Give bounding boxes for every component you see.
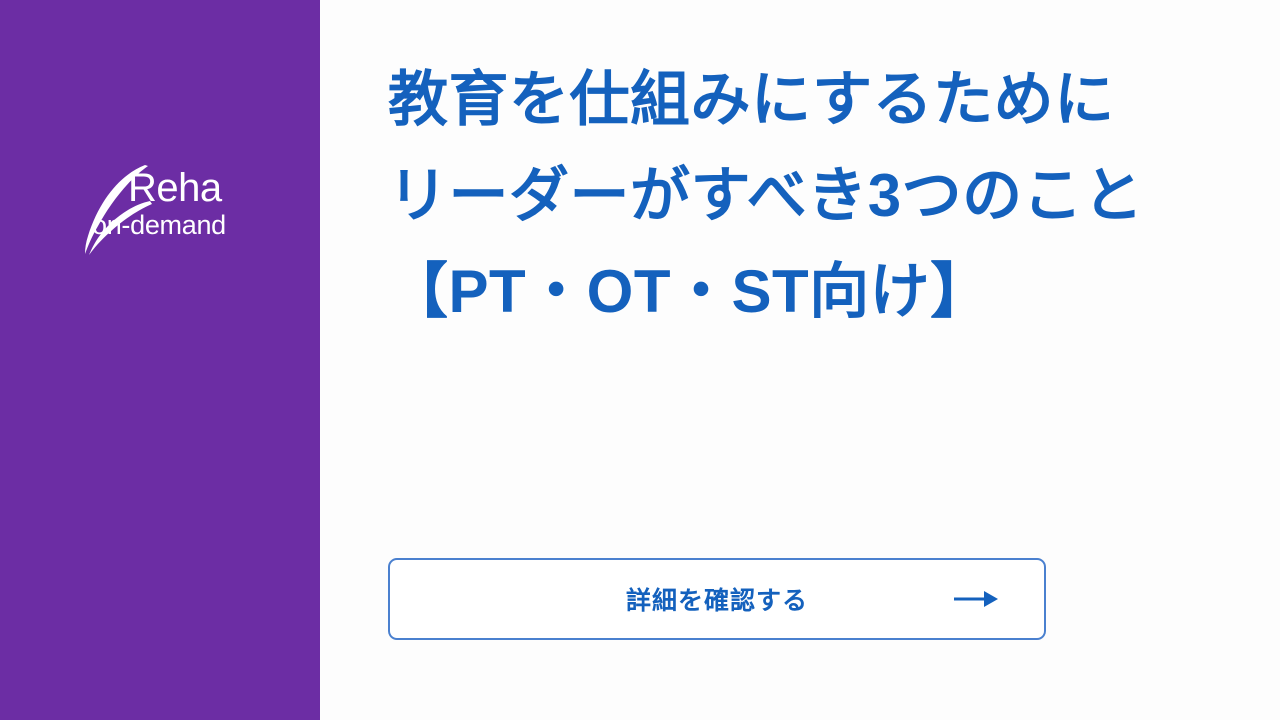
page-title: 教育を仕組みにするために リーダーがすべき3つのこと 【PT・OT・ST向け】 xyxy=(388,52,1248,340)
content-area: 教育を仕組みにするために リーダーがすべき3つのこと 【PT・OT・ST向け】 … xyxy=(320,0,1280,720)
brand-tagline: on-demand xyxy=(92,212,318,239)
brand-wordmark: Reha on-demand xyxy=(128,168,318,239)
slide-root: Reha on-demand 教育を仕組みにするために リーダーがすべき3つのこ… xyxy=(0,0,1280,720)
brand-name: Reha xyxy=(128,168,318,208)
headline-line-1: 教育を仕組みにするために xyxy=(388,52,1248,148)
arrow-right-icon xyxy=(954,589,1000,609)
headline-line-2: リーダーがすべき3つのこと xyxy=(388,148,1248,244)
view-details-button[interactable]: 詳細を確認する xyxy=(388,558,1046,640)
brand-lockup: Reha on-demand xyxy=(0,160,320,270)
brand-panel: Reha on-demand xyxy=(0,0,320,720)
headline-line-3: 【PT・OT・ST向け】 xyxy=(388,244,1248,340)
view-details-label: 詳細を確認する xyxy=(390,581,1044,617)
